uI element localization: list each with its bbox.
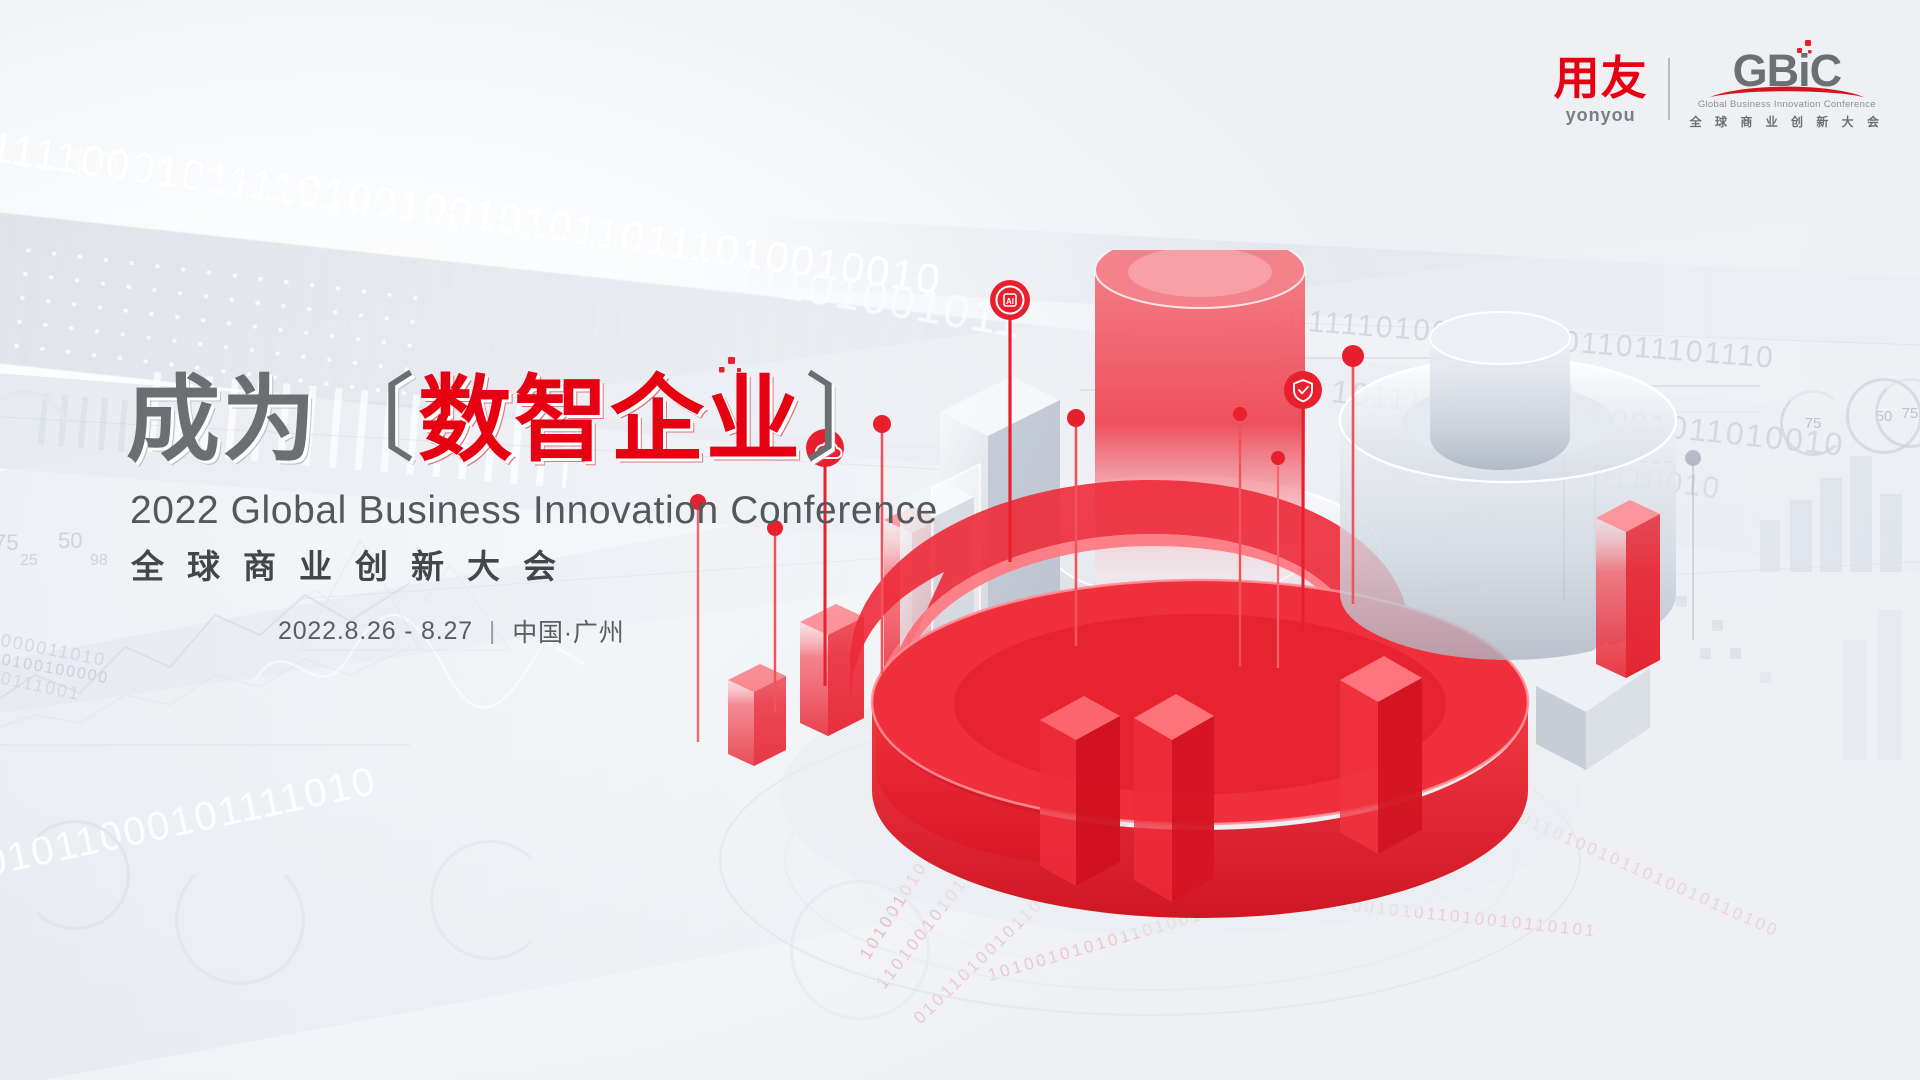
bar-silhouette-3 xyxy=(1850,456,1872,572)
event-location: 中国·广州 xyxy=(512,613,624,649)
gauge-ring-right-3: 75 xyxy=(1875,378,1920,448)
gauge-ring-right-2: 50 xyxy=(1846,378,1920,454)
square-dot-2 xyxy=(1712,620,1723,631)
gbic-subtitle-en: Global Business Innovation Conference xyxy=(1698,99,1876,110)
event-dates: 2022.8.26 - 8.27 xyxy=(278,617,473,646)
yonyou-logo: 用友 yonyou xyxy=(1554,55,1648,124)
binary-strip-left-1: 000011010 xyxy=(0,630,108,671)
conference-banner: 0111100010111101001001010110111010010010… xyxy=(0,0,1920,1080)
yonyou-wordmark-cn: 用友 xyxy=(1554,55,1648,101)
bar-silhouette-7 xyxy=(1878,610,1902,760)
gauge-value-25-left: 25 xyxy=(20,552,38,570)
main-headline: 成为 〔 数智企业 〕 xyxy=(126,372,902,468)
gauge-ring-bottom-3 xyxy=(430,840,550,960)
subtitle-english: 2022 Global Business Innovation Conferen… xyxy=(130,489,938,533)
meta-separator: | xyxy=(489,617,496,646)
gauge-ring-bottom-1 xyxy=(20,820,130,930)
gbic-wordmark: GBiC xyxy=(1733,45,1842,96)
yonyou-wordmark-en: yonyou xyxy=(1566,106,1636,124)
binary-strip-left-4: 10100100000 xyxy=(0,650,111,689)
illustration-svg: AI xyxy=(640,250,1700,970)
gauge-value-50-left: 50 xyxy=(58,528,82,554)
gauge-ring-bottom-2 xyxy=(175,855,305,985)
logo-divider xyxy=(1668,58,1670,120)
wave-chart-silhouette xyxy=(255,585,585,735)
sparkle-icon xyxy=(704,356,744,388)
gauge-ring-right-1: 75 xyxy=(1780,390,1846,456)
gauge-value-75-left: 75 xyxy=(0,530,18,556)
bar-chart-red-right xyxy=(1596,500,1660,678)
headline-prefix: 成为 xyxy=(126,373,318,467)
bar-silhouette-1 xyxy=(1790,500,1812,572)
gbic-logo: GBiC Global Business Innovation Conferen… xyxy=(1690,48,1884,130)
isometric-data-illustration: AI xyxy=(640,250,1700,970)
event-meta: 2022.8.26 - 8.27 | 中国·广州 xyxy=(278,613,625,649)
logo-lockup: 用友 yonyou GBiC Global Business Innovatio… xyxy=(1554,48,1884,130)
bar-silhouette-5 xyxy=(1760,520,1780,572)
binary-strip-left-3: 01011000101111010 xyxy=(0,759,381,886)
subtitle-chinese: 全球商业创新大会 xyxy=(131,540,579,588)
gauge-ring-left xyxy=(0,374,86,498)
bar-silhouette-2 xyxy=(1820,478,1842,572)
gbic-pixel-dots-icon xyxy=(1789,40,1815,62)
binary-strip-left-2: 0111001 xyxy=(0,668,83,705)
bracket-close: 〕 xyxy=(804,372,900,468)
gbic-subtitle-cn: 全 球 商 业 创 新 大 会 xyxy=(1690,113,1884,130)
square-dot-5 xyxy=(1760,672,1771,683)
square-dot-3 xyxy=(1700,648,1711,659)
bar-silhouette-4 xyxy=(1880,494,1902,572)
square-dot-4 xyxy=(1730,648,1741,659)
svg-text:AI: AI xyxy=(1006,297,1014,306)
gauge-value-98-left: 98 xyxy=(90,552,108,570)
headline-emphasis: 数智企业 xyxy=(418,373,802,467)
bar-silhouette-6 xyxy=(1843,640,1867,760)
bracket-open: 〔 xyxy=(320,372,416,468)
